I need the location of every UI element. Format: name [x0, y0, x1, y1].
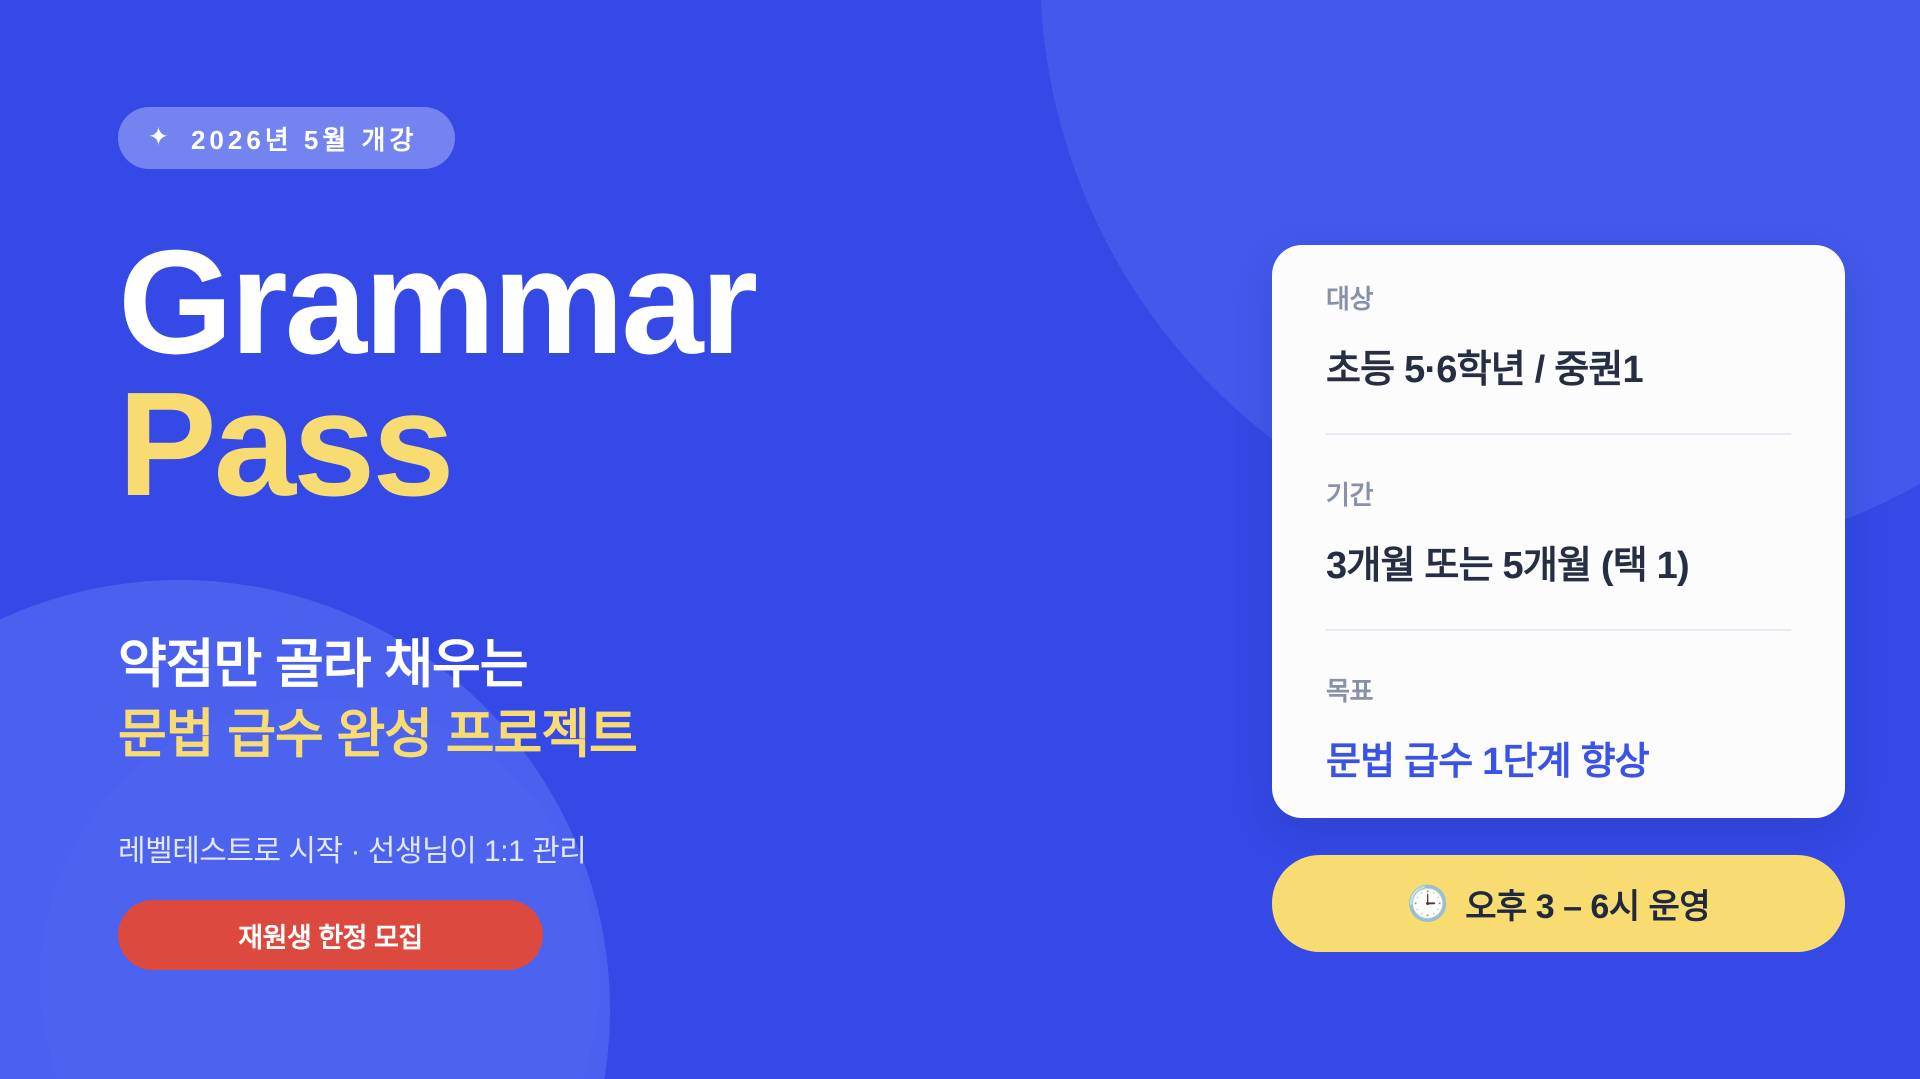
limited-enrollment-button[interactable]: 재원생 한정 모집 [118, 900, 543, 970]
headline-line-2: Pass [118, 374, 1118, 516]
info-row-target-value: 초등 5·6학년 / 중퀀1 [1326, 338, 1791, 393]
subheadline-line-2: 문법 급수 완성 프로젝트 [118, 700, 1018, 770]
open-date-badge: ✦ 2026년 5월 개강 [118, 107, 455, 169]
course-info-card: 대상 초등 5·6학년 / 중퀀1 기간 3개월 또는 5개월 (택 1) 목표… [1272, 245, 1845, 818]
info-row-target: 대상 초등 5·6학년 / 중퀀1 [1326, 273, 1791, 433]
subheadline: 약점만 골라 채우는 문법 급수 완성 프로젝트 [118, 630, 1018, 770]
info-row-duration-value: 3개월 또는 5개월 (택 1) [1326, 534, 1791, 589]
info-row-goal-label: 목표 [1326, 671, 1791, 708]
left-content-column: ✦ 2026년 5월 개강 Grammar Pass 약점만 골라 채우는 문법… [118, 0, 1198, 1079]
open-date-badge-label: 2026년 5월 개강 [191, 120, 417, 157]
info-row-duration-label: 기간 [1326, 475, 1791, 512]
clock-icon: 🕒 [1407, 887, 1449, 921]
info-row-target-label: 대상 [1326, 279, 1791, 316]
operating-hours-button[interactable]: 🕒 오후 3 – 6시 운영 [1272, 855, 1845, 952]
limited-enrollment-button-label: 재원생 한정 모집 [238, 916, 422, 955]
info-row-duration: 기간 3개월 또는 5개월 (택 1) [1326, 433, 1791, 629]
headline-line-1: Grammar [118, 232, 1118, 374]
info-row-goal: 목표 문법 급수 1단계 향상 [1326, 629, 1791, 791]
page-title: Grammar Pass [118, 232, 1118, 516]
operating-hours-label: 오후 3 – 6시 운영 [1465, 879, 1710, 928]
promo-banner: ✦ 2026년 5월 개강 Grammar Pass 약점만 골라 채우는 문법… [0, 0, 1920, 1079]
supporting-caption: 레벨테스트로 시작 · 선생님이 1:1 관리 [118, 826, 586, 870]
info-row-goal-value: 문법 급수 1단계 향상 [1326, 730, 1791, 785]
sparkle-icon: ✦ [148, 125, 169, 150]
subheadline-line-1: 약점만 골라 채우는 [118, 630, 1018, 700]
